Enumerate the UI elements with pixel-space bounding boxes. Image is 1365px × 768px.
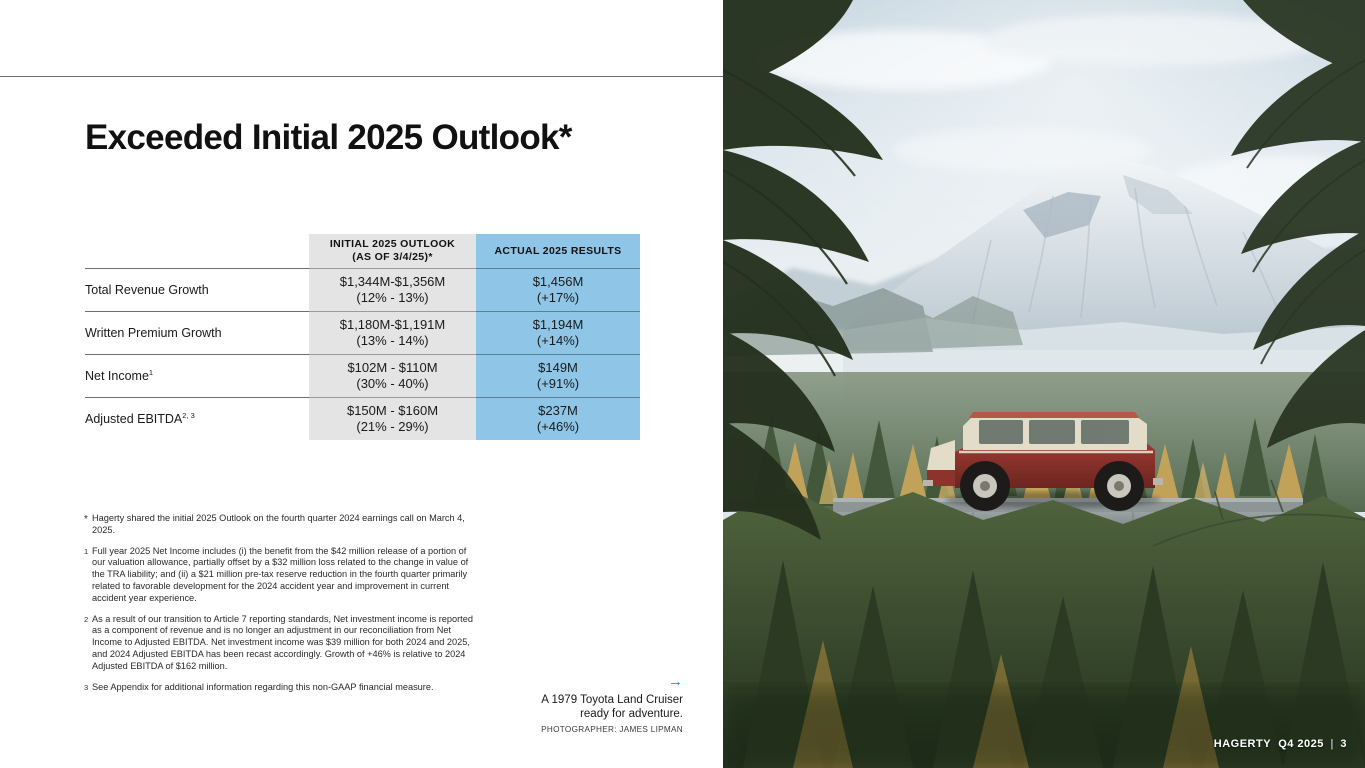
slide-footer: HAGERTY Q4 2025 | 3 <box>1214 738 1347 750</box>
content-panel: Exceeded Initial 2025 Outlook* INITIAL 2… <box>0 0 723 768</box>
footer-period: Q4 2025 <box>1278 738 1324 750</box>
footnote-1: 1Full year 2025 Net Income includes (i) … <box>84 546 476 605</box>
cell-percent: (+17%) <box>476 290 640 306</box>
cell-value: $1,194M <box>533 317 584 332</box>
cell-value: $150M - $160M <box>347 403 438 418</box>
cell-value: $149M <box>538 360 578 375</box>
cell-percent: (+91%) <box>476 376 640 392</box>
header-divider <box>0 76 723 77</box>
cell-value: $1,344M-$1,356M <box>340 274 446 289</box>
cell-initial-adjusted-ebitda: $150M - $160M (21% - 29%) <box>309 397 476 440</box>
photo-caption-text: A 1979 Toyota Land Cruiser ready for adv… <box>455 693 683 721</box>
footnote-marker: 3 <box>84 682 88 694</box>
cell-percent: (+14%) <box>476 333 640 349</box>
cell-percent: (13% - 14%) <box>309 333 476 349</box>
photographer-credit: PHOTOGRAPHER: JAMES LIPMAN <box>455 725 683 734</box>
cell-actual-written-premium-growth: $1,194M (+14%) <box>476 311 640 354</box>
hero-photo-illustration <box>723 0 1365 768</box>
hero-photo <box>723 0 1365 768</box>
table-header-initial-outlook: INITIAL 2025 OUTLOOK (AS OF 3/4/25)* <box>309 234 476 268</box>
row-label-text: Adjusted EBITDA <box>85 412 182 426</box>
table-header-row: INITIAL 2025 OUTLOOK (AS OF 3/4/25)* ACT… <box>85 234 640 268</box>
row-label-net-income: Net Income1 <box>85 354 309 397</box>
row-label-adjusted-ebitda: Adjusted EBITDA2, 3 <box>85 397 309 440</box>
cell-actual-adjusted-ebitda: $237M (+46%) <box>476 397 640 440</box>
cell-actual-total-revenue-growth: $1,456M (+17%) <box>476 268 640 311</box>
cell-initial-total-revenue-growth: $1,344M-$1,356M (12% - 13%) <box>309 268 476 311</box>
footnote-text: See Appendix for additional information … <box>92 682 434 692</box>
page-title: Exceeded Initial 2025 Outlook* <box>85 118 572 158</box>
cell-value: $102M - $110M <box>347 360 437 375</box>
cell-percent: (12% - 13%) <box>309 290 476 306</box>
outlook-comparison-table: INITIAL 2025 OUTLOOK (AS OF 3/4/25)* ACT… <box>85 234 640 440</box>
footnotes-block: *Hagerty shared the initial 2025 Outlook… <box>84 513 476 702</box>
arrow-right-icon: → <box>455 676 683 688</box>
row-label-superscript: 1 <box>149 367 153 376</box>
cell-percent: (30% - 40%) <box>309 376 476 392</box>
table-header-actual-results: ACTUAL 2025 RESULTS <box>476 234 640 268</box>
footnote-2: 2As a result of our transition to Articl… <box>84 614 476 673</box>
row-label-superscript: 2, 3 <box>182 411 195 420</box>
footer-page-number: 3 <box>1340 738 1347 750</box>
cell-initial-net-income: $102M - $110M (30% - 40%) <box>309 354 476 397</box>
footnote-3: 3See Appendix for additional information… <box>84 682 476 694</box>
footnote-text: Hagerty shared the initial 2025 Outlook … <box>92 513 465 535</box>
table-row: Adjusted EBITDA2, 3 $150M - $160M (21% -… <box>85 397 640 440</box>
photo-caption-block: → A 1979 Toyota Land Cruiser ready for a… <box>455 676 683 734</box>
cell-percent: (+46%) <box>476 419 640 435</box>
footnote-marker: 1 <box>84 546 88 558</box>
row-label-written-premium-growth: Written Premium Growth <box>85 311 309 354</box>
caption-line-2: ready for adventure. <box>580 708 683 720</box>
table-row: Written Premium Growth $1,180M-$1,191M (… <box>85 311 640 354</box>
cell-value: $1,456M <box>533 274 584 289</box>
footnote-asterisk: *Hagerty shared the initial 2025 Outlook… <box>84 513 476 537</box>
table-row: Total Revenue Growth $1,344M-$1,356M (12… <box>85 268 640 311</box>
header-initial-line2: (AS OF 3/4/25)* <box>352 251 433 263</box>
caption-line-1: A 1979 Toyota Land Cruiser <box>541 694 683 706</box>
table-header-blank <box>85 234 309 268</box>
cell-actual-net-income: $149M (+91%) <box>476 354 640 397</box>
cell-value: $1,180M-$1,191M <box>340 317 446 332</box>
row-label-total-revenue-growth: Total Revenue Growth <box>85 268 309 311</box>
footnote-marker: 2 <box>84 614 88 626</box>
cell-initial-written-premium-growth: $1,180M-$1,191M (13% - 14%) <box>309 311 476 354</box>
footer-separator: | <box>1330 738 1333 750</box>
footnote-text: Full year 2025 Net Income includes (i) t… <box>92 546 468 603</box>
row-label-text: Written Premium Growth <box>85 326 222 340</box>
header-initial-line1: INITIAL 2025 OUTLOOK <box>330 238 455 250</box>
cell-percent: (21% - 29%) <box>309 419 476 435</box>
footnote-text: As a result of our transition to Article… <box>92 614 473 671</box>
row-label-text: Total Revenue Growth <box>85 283 209 297</box>
table-row: Net Income1 $102M - $110M (30% - 40%) $1… <box>85 354 640 397</box>
cell-value: $237M <box>538 403 578 418</box>
row-label-text: Net Income <box>85 369 149 383</box>
footnote-marker: * <box>84 513 88 526</box>
footer-brand: HAGERTY <box>1214 738 1271 750</box>
